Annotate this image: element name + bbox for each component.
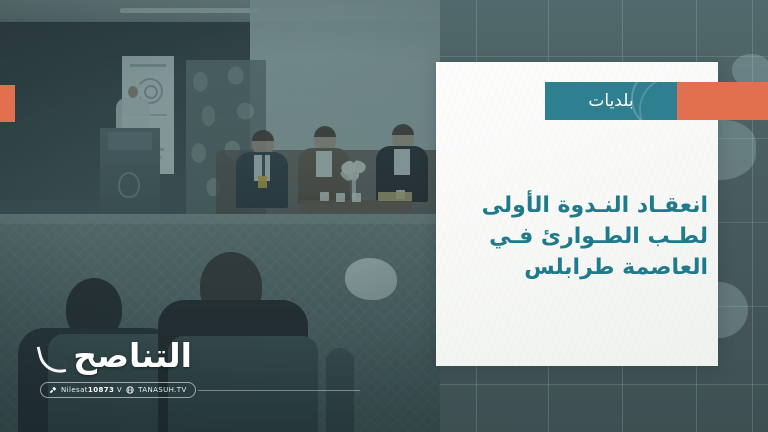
strip-divider-line [198, 390, 360, 391]
channel-logo-mark: التناصح [40, 336, 192, 380]
channel-website: TANASUH.TV [138, 386, 187, 394]
left-accent-block [0, 85, 15, 122]
news-headline: انعقـاد النـدوة الأولى لطـب الطـوارئ فـي… [442, 190, 708, 284]
headline-line-3: العاصمة طرابلس [442, 252, 708, 283]
channel-logo-block: التناصح Nilesat10873 V TANASUH.TV [40, 336, 240, 408]
headline-line-1: انعقـاد النـدوة الأولى [442, 190, 708, 221]
headline-line-2: لطـب الطـوارئ فـي [442, 221, 708, 252]
satellite-polarization: V [117, 386, 122, 394]
satellite-icon [49, 386, 57, 394]
globe-icon [126, 386, 134, 394]
satellite-frequency: 10873 [88, 386, 114, 394]
broadcast-lower-third-graphic: الجمعية الليبية لطب الطوارئ الندوة الأول… [0, 0, 768, 432]
satellite-info: Nilesat10873 V [61, 386, 122, 394]
category-accent-bar [677, 82, 768, 120]
category-badge-label: بلديات [588, 91, 633, 111]
satellite-name: Nilesat [61, 386, 88, 394]
channel-info-strip: Nilesat10873 V TANASUH.TV [40, 382, 360, 398]
channel-name-arabic: التناصح [58, 334, 192, 378]
category-badge-row: بلديات [545, 82, 768, 120]
category-badge[interactable]: بلديات [545, 82, 677, 120]
channel-info-pill: Nilesat10873 V TANASUH.TV [40, 382, 196, 398]
